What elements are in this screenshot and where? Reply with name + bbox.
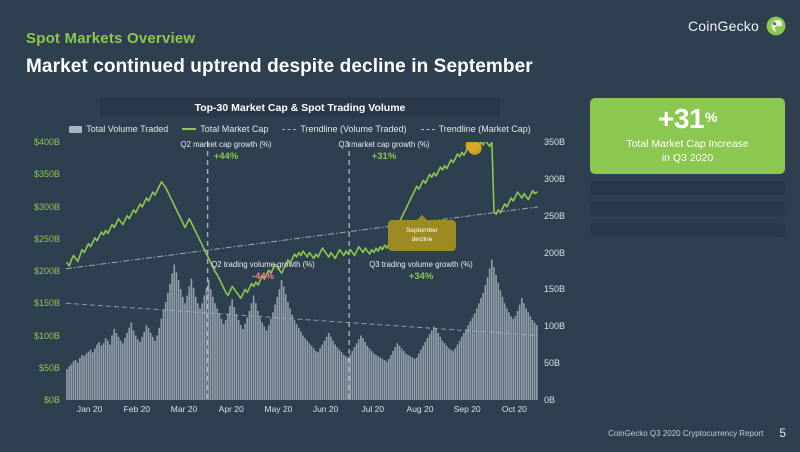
page-title: Market continued uptrend despite decline… bbox=[26, 56, 533, 78]
volume-bars bbox=[66, 259, 537, 400]
insight-note bbox=[590, 223, 785, 237]
insight-note bbox=[590, 181, 785, 195]
legend-label: Trendline (Volume Traded) bbox=[300, 124, 406, 134]
y-tick-left: $100B bbox=[34, 331, 60, 341]
y-tick-right: 300B bbox=[544, 174, 565, 184]
plot-area: $0B$50B$100B$150B$200B$250B$300B$350B$40… bbox=[20, 142, 580, 433]
legend-item-total-market-cap: Total Market Cap bbox=[182, 124, 268, 134]
right-rail: +31% Total Market Cap Increasein Q3 2020 bbox=[590, 98, 785, 237]
line-swatch-icon bbox=[182, 128, 196, 130]
y-tick-left: $150B bbox=[34, 298, 60, 308]
chart-title: Top-30 Market Cap & Spot Trading Volume bbox=[100, 98, 500, 117]
trendline bbox=[66, 303, 538, 335]
gecko-logo-icon bbox=[766, 16, 786, 36]
bar-swatch-icon bbox=[69, 126, 82, 133]
x-tick: Jan 20 bbox=[77, 404, 103, 414]
y-axis-right: 0B50B100B150B200B250B300B350B bbox=[540, 142, 580, 400]
chart-legend: Total Volume Traded Total Market Cap Tre… bbox=[20, 122, 580, 136]
x-tick: Sep 20 bbox=[454, 404, 481, 414]
y-tick-right: 250B bbox=[544, 211, 565, 221]
x-tick: May 20 bbox=[264, 404, 292, 414]
september-trough-marker bbox=[468, 142, 482, 155]
x-tick: Jul 20 bbox=[361, 404, 384, 414]
legend-label: Trendline (Market Cap) bbox=[439, 124, 531, 134]
y-tick-left: $300B bbox=[34, 202, 60, 212]
kpi-value: +31% bbox=[600, 105, 775, 133]
y-tick-left: $350B bbox=[34, 169, 60, 179]
x-tick: Mar 20 bbox=[171, 404, 197, 414]
y-tick-right: 50B bbox=[544, 358, 560, 368]
y-tick-right: 100B bbox=[544, 321, 565, 331]
y-tick-left: $400B bbox=[34, 137, 60, 147]
y-tick-left: $0B bbox=[44, 395, 60, 405]
september-decline-callout: September decline bbox=[388, 220, 456, 251]
brand-logo: CoinGecko bbox=[688, 16, 786, 36]
legend-item-trendline-marketcap: Trendline (Market Cap) bbox=[421, 124, 531, 134]
insight-note bbox=[590, 202, 785, 216]
x-tick: Feb 20 bbox=[124, 404, 150, 414]
section-eyebrow: Spot Markets Overview bbox=[26, 30, 195, 47]
slide-footer: CoinGecko Q3 2020 Cryptocurrency Report … bbox=[608, 426, 786, 440]
x-tick: Apr 20 bbox=[219, 404, 244, 414]
chart-panel: Top-30 Market Cap & Spot Trading Volume … bbox=[20, 98, 580, 433]
y-tick-right: 150B bbox=[544, 284, 565, 294]
y-tick-right: 350B bbox=[544, 137, 565, 147]
x-tick: Jun 20 bbox=[313, 404, 339, 414]
x-tick: Aug 20 bbox=[407, 404, 434, 414]
y-tick-right: 200B bbox=[544, 248, 565, 258]
slide-root: Spot Markets Overview Market continued u… bbox=[0, 0, 800, 452]
legend-label: Total Volume Traded bbox=[86, 124, 168, 134]
market-cap-line bbox=[67, 142, 537, 298]
kpi-card: +31% Total Market Cap Increasein Q3 2020 bbox=[590, 98, 785, 174]
y-tick-left: $50B bbox=[39, 363, 60, 373]
brand-name: CoinGecko bbox=[688, 18, 759, 34]
legend-label: Total Market Cap bbox=[200, 124, 268, 134]
legend-item-total-volume-traded: Total Volume Traded bbox=[69, 124, 168, 134]
chart-canvas: Q2 market cap growth (%) +44% Q3 market … bbox=[66, 142, 538, 400]
dashed-line-swatch-icon bbox=[421, 129, 435, 130]
y-axis-left: $0B$50B$100B$150B$200B$250B$300B$350B$40… bbox=[20, 142, 64, 400]
footer-source: CoinGecko Q3 2020 Cryptocurrency Report bbox=[608, 429, 763, 438]
x-axis: Jan 20Feb 20Mar 20Apr 20May 20Jun 20Jul … bbox=[66, 402, 538, 420]
y-tick-left: $250B bbox=[34, 234, 60, 244]
trendline bbox=[66, 207, 538, 269]
y-tick-left: $200B bbox=[34, 266, 60, 276]
legend-item-trendline-volume: Trendline (Volume Traded) bbox=[282, 124, 406, 134]
x-tick: Oct 20 bbox=[502, 404, 527, 414]
dashed-line-swatch-icon bbox=[282, 129, 296, 130]
page-number: 5 bbox=[779, 426, 786, 440]
y-tick-right: 0B bbox=[544, 395, 555, 405]
kpi-subtitle: Total Market Cap Increasein Q3 2020 bbox=[600, 138, 775, 165]
